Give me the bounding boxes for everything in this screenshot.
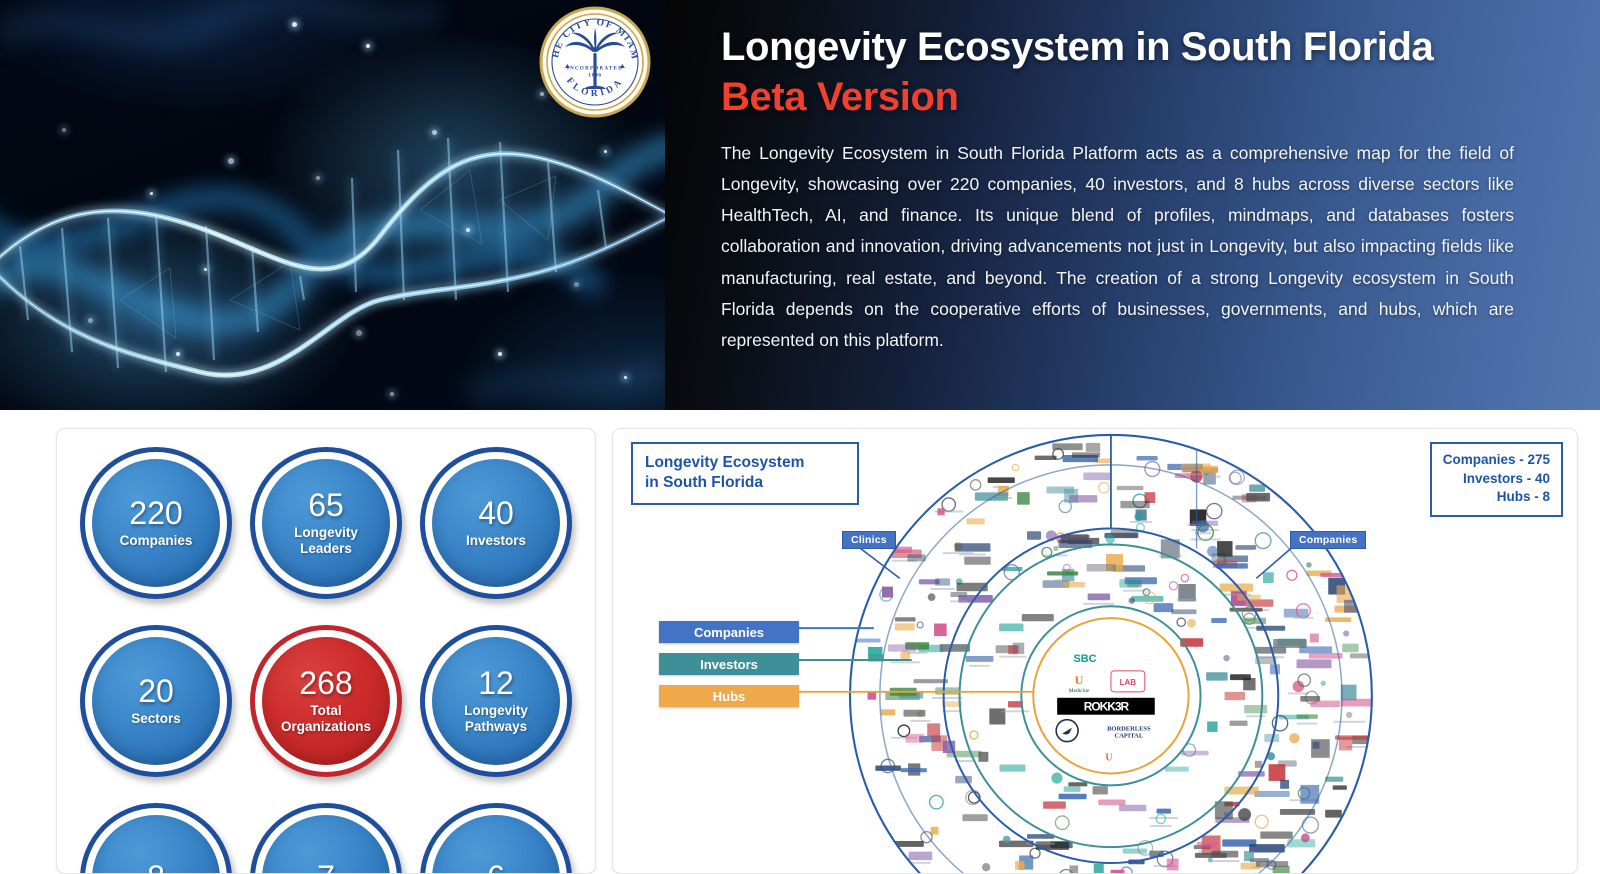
hero-text-block: Longevity Ecosystem in South Florida Bet… <box>665 0 1600 410</box>
svg-text:U: U <box>1075 673 1084 687</box>
mindmap-legend: Companies Investors Hubs <box>659 621 799 717</box>
stat-circle-companies[interactable]: 220 Companies <box>80 447 232 599</box>
stat-label: LongevityLeaders <box>294 525 358 557</box>
mindmap-panel[interactable]: SBC U Medicine LAB ROKK3R BORDERLESS CAP… <box>612 428 1578 874</box>
stat-circle-sectors[interactable]: 20 Sectors <box>80 625 232 777</box>
mindmap-title-line1: Longevity Ecosystem <box>645 454 804 471</box>
stat-label: LongevityPathways <box>464 703 528 735</box>
mindmap-counts-box: Companies - 275 Investors - 40 Hubs - 8 <box>1430 442 1563 517</box>
svg-text:CAPITAL: CAPITAL <box>1115 733 1144 740</box>
stat-value: 6 <box>487 861 505 874</box>
stat-circle-row3-1[interactable]: 8 <box>80 803 232 874</box>
sector-tag-companies[interactable]: Companies <box>1290 531 1366 549</box>
stats-grid: 220 Companies 65 LongevityLeaders 40 Inv… <box>71 447 581 874</box>
seal-incorporated-text: INCORPORATED <box>567 67 623 72</box>
page-title: Longevity Ecosystem in South Florida Bet… <box>721 22 1514 122</box>
stat-circle-longevity-pathways[interactable]: 12 LongevityPathways <box>420 625 572 777</box>
svg-text:BORDERLESS: BORDERLESS <box>1107 726 1151 733</box>
svg-text:U: U <box>1105 753 1112 764</box>
stat-value: 268 <box>299 667 352 701</box>
stat-label: Sectors <box>131 711 181 727</box>
stat-label: TotalOrganizations <box>281 703 371 735</box>
stat-circle-longevity-leaders[interactable]: 65 LongevityLeaders <box>250 447 402 599</box>
legend-item-hubs[interactable]: Hubs <box>659 685 799 707</box>
count-investors: Investors - 40 <box>1443 470 1550 489</box>
stat-value: 12 <box>478 667 514 701</box>
sector-tag-clinics[interactable]: Clinics <box>842 531 896 549</box>
count-companies: Companies - 275 <box>1443 451 1550 470</box>
mindmap-title-box: Longevity Ecosystem in South Florida <box>631 442 859 505</box>
stat-value: 65 <box>308 489 344 523</box>
legend-item-investors[interactable]: Investors <box>659 653 799 675</box>
statistics-panel: 220 Companies 65 LongevityLeaders 40 Inv… <box>56 428 596 874</box>
stat-circle-row3-3[interactable]: 6 <box>420 803 572 874</box>
content-panels: 220 Companies 65 LongevityLeaders 40 Inv… <box>0 410 1600 874</box>
dna-hero-image: THE CITY OF MIAMI FLORIDA INCORPORATED <box>0 0 665 410</box>
stat-value: 220 <box>129 497 182 531</box>
stat-value: 20 <box>138 675 174 709</box>
beta-version-badge: Beta Version <box>721 75 959 119</box>
page-title-main: Longevity Ecosystem in South Florida <box>721 25 1433 69</box>
stat-label: Companies <box>120 533 193 549</box>
mindmap-title-line2: in South Florida <box>645 474 763 491</box>
city-of-miami-seal-icon: THE CITY OF MIAMI FLORIDA INCORPORATED <box>539 6 651 118</box>
hero-description: The Longevity Ecosystem in South Florida… <box>721 138 1514 356</box>
legend-item-companies[interactable]: Companies <box>659 621 799 643</box>
svg-text:Medicine: Medicine <box>1069 688 1090 694</box>
mindmap-diagram[interactable]: SBC U Medicine LAB ROKK3R BORDERLESS CAP… <box>613 429 1577 873</box>
stat-label: Investors <box>466 533 526 549</box>
svg-text:LAB: LAB <box>1120 678 1137 687</box>
stat-value: 7 <box>317 861 335 874</box>
seal-year-text: 1896 <box>588 73 602 79</box>
stat-value: 8 <box>147 861 165 874</box>
stat-value: 40 <box>478 497 514 531</box>
svg-text:SBC: SBC <box>1073 653 1096 665</box>
stat-circle-investors[interactable]: 40 Investors <box>420 447 572 599</box>
stat-circle-row3-2[interactable]: 7 <box>250 803 402 874</box>
svg-text:ROKK3R: ROKK3R <box>1084 700 1130 714</box>
hero-banner: THE CITY OF MIAMI FLORIDA INCORPORATED <box>0 0 1600 410</box>
count-hubs: Hubs - 8 <box>1443 488 1550 507</box>
stat-circle-total-organizations[interactable]: 268 TotalOrganizations <box>250 625 402 777</box>
